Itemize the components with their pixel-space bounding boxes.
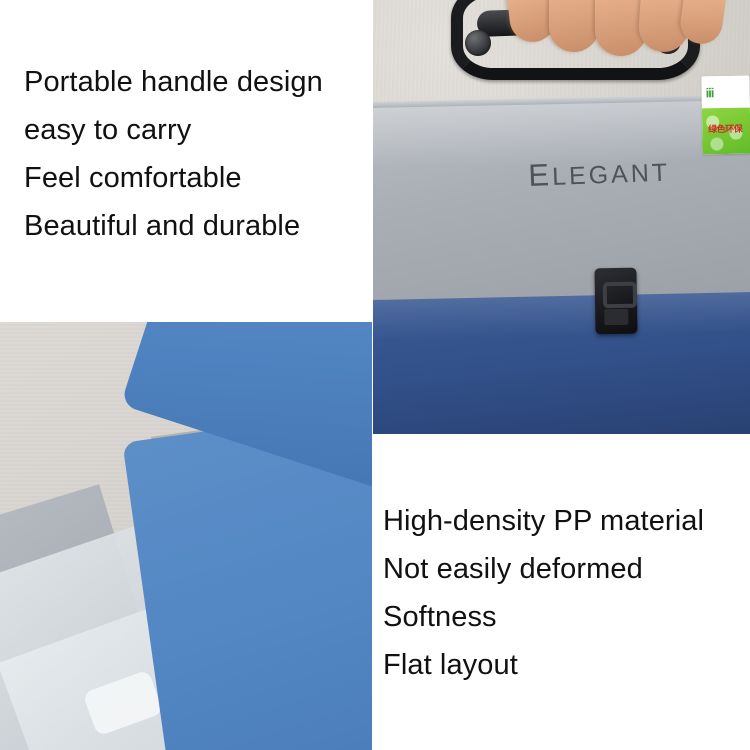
case-body-blue: [373, 292, 750, 434]
finger: [549, 0, 599, 52]
clasp-ring: [603, 282, 637, 309]
feature-copy-bottom-right: High-density PP material Not easily defo…: [383, 497, 704, 689]
copy-line: Beautiful and durable: [24, 202, 323, 250]
brand-logo: ELEGANT: [528, 153, 671, 194]
sticker-cn-text: 绿色环保: [708, 122, 742, 136]
product-photo-handle: ELEGANT iii 绿色环保: [373, 0, 750, 434]
sticker-mark-accent: iii: [705, 85, 713, 100]
copy-line: easy to carry: [24, 106, 323, 154]
brand-rest: LEGANT: [552, 159, 671, 192]
human-hand: [491, 0, 721, 60]
clasp-plate: [604, 309, 628, 325]
body-sheen: [373, 292, 750, 341]
product-sticker-label: iii 绿色环保: [701, 76, 750, 155]
marketing-image-canvas: Portable handle design easy to carry Fee…: [0, 0, 750, 750]
case-lid-silver: ELEGANT: [373, 100, 750, 310]
copy-line: Softness: [383, 593, 704, 641]
copy-line: Feel comfortable: [24, 154, 323, 202]
sticker-top-half: iii: [701, 76, 750, 109]
copy-line: Not easily deformed: [383, 545, 704, 593]
copy-line: Portable handle design: [24, 58, 323, 106]
copy-line: High-density PP material: [383, 497, 704, 545]
product-photo-accordion: INDEX: [0, 322, 372, 750]
brand-initial: E: [528, 157, 553, 193]
case-clasp: [594, 268, 637, 335]
copy-line: Flat layout: [383, 641, 704, 689]
feature-copy-top-left: Portable handle design easy to carry Fee…: [24, 58, 323, 250]
sticker-bottom-half: 绿色环保: [702, 108, 750, 155]
sticker-logo-mark: iii: [705, 85, 713, 100]
handle-hinge-left: [465, 30, 491, 56]
